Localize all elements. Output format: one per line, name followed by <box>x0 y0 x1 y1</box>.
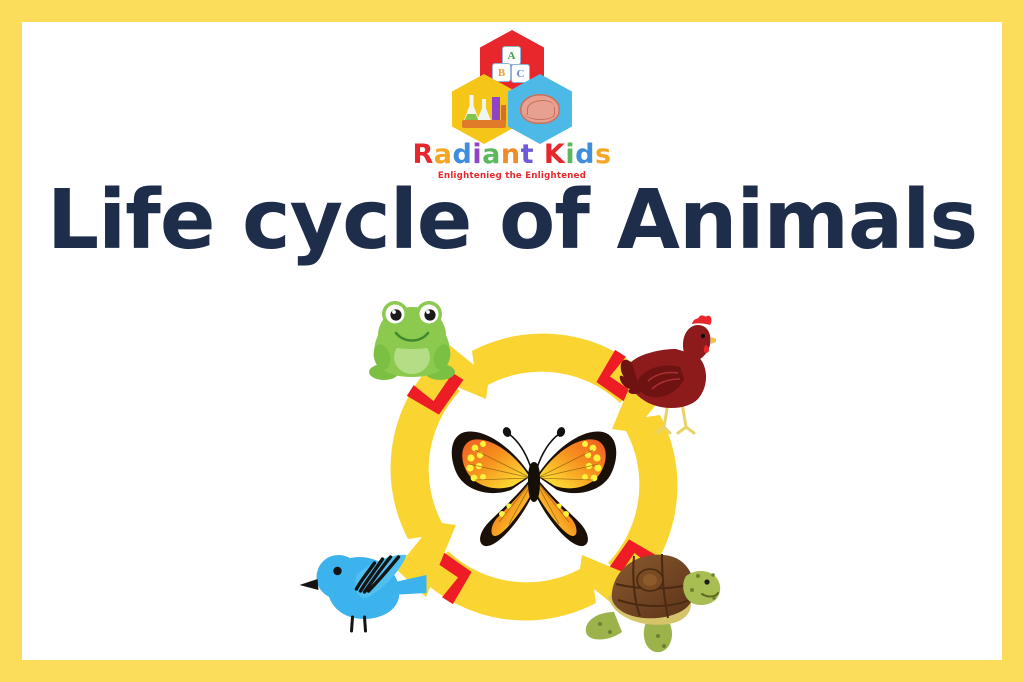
logo-letter-9: i <box>565 141 575 168</box>
frog-illustration <box>364 289 460 385</box>
logo-letter-2: d <box>453 141 473 168</box>
logo-hexagon-group: A B C <box>452 30 572 138</box>
lab-bench <box>462 120 506 128</box>
logo-letter-3: i <box>472 141 482 168</box>
logo-wordmark: Radiant Kids <box>412 141 611 168</box>
science-flasks-icon <box>461 89 507 129</box>
logo-letter-11: s <box>595 141 612 168</box>
brain-hexagon <box>508 74 572 144</box>
bird-illustration <box>295 531 430 643</box>
logo-letter-5: n <box>501 141 521 168</box>
brand-logo: A B C <box>417 30 607 190</box>
logo-letter-4: a <box>482 141 501 168</box>
logo-letter-1: a <box>434 141 453 168</box>
page-title: Life cycle of Animals <box>22 180 1002 262</box>
brain-icon <box>520 94 560 124</box>
poster-canvas: A B C <box>0 0 1024 682</box>
hen-illustration <box>618 311 716 439</box>
turtle-illustration <box>582 540 722 658</box>
butterfly-illustration <box>445 402 623 552</box>
lab-flasks-hexagon <box>452 74 516 144</box>
logo-letter-10: d <box>575 141 595 168</box>
logo-letter-0: R <box>412 141 433 168</box>
logo-letter-7 <box>534 141 544 168</box>
logo-letter-8: K <box>544 141 565 168</box>
logo-letter-6: t <box>521 141 534 168</box>
